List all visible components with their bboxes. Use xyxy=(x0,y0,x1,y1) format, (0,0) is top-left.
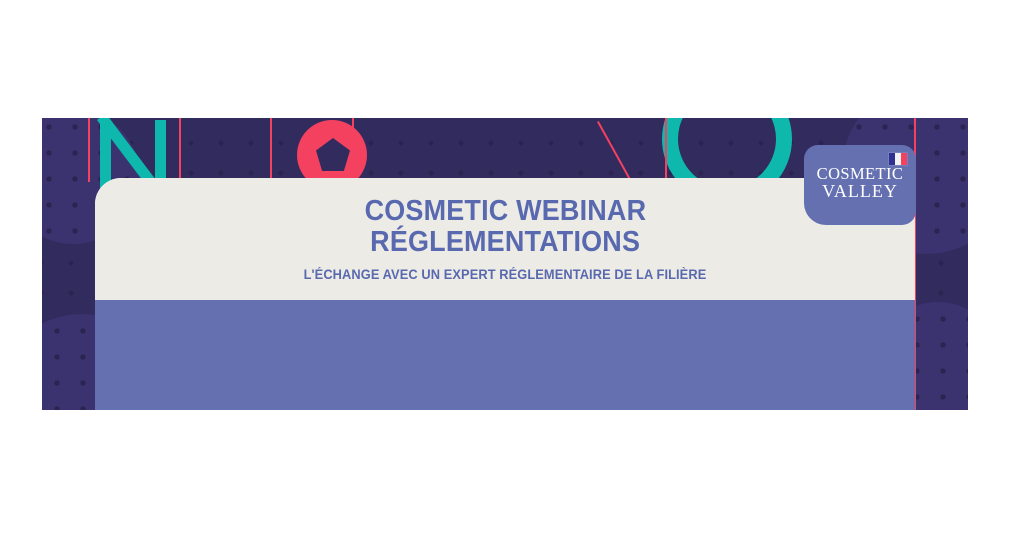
page-subtitle: L'ÉCHANGE AVEC UN EXPERT RÉGLEMENTAIRE D… xyxy=(304,267,707,282)
logo-wordmark: COSMETIC VALLEY xyxy=(804,165,916,202)
pink-vertical-rule xyxy=(270,118,272,182)
logo-line-1: COSMETIC xyxy=(804,165,916,182)
pink-vertical-rule xyxy=(179,118,181,182)
cosmetic-valley-logo[interactable]: COSMETIC VALLEY xyxy=(804,145,916,225)
headings-group: COSMETIC WEBINAR RÉGLEMENTATIONS L'ÉCHAN… xyxy=(95,178,915,300)
page-title-line-1: COSMETIC WEBINAR xyxy=(364,196,646,227)
pink-vertical-rule xyxy=(665,118,667,182)
page-title-line-2: RÉGLEMENTATIONS xyxy=(370,227,640,258)
logo-line-2: VALLEY xyxy=(804,182,916,201)
pink-vertical-rule xyxy=(352,118,354,182)
pink-vertical-rule xyxy=(88,118,90,182)
content-card: COSMETIC WEBINAR RÉGLEMENTATIONS L'ÉCHAN… xyxy=(95,178,915,410)
event-banner: COSMETIC WEBINAR RÉGLEMENTATIONS L'ÉCHAN… xyxy=(42,118,968,410)
card-periwinkle-bar xyxy=(95,300,915,410)
